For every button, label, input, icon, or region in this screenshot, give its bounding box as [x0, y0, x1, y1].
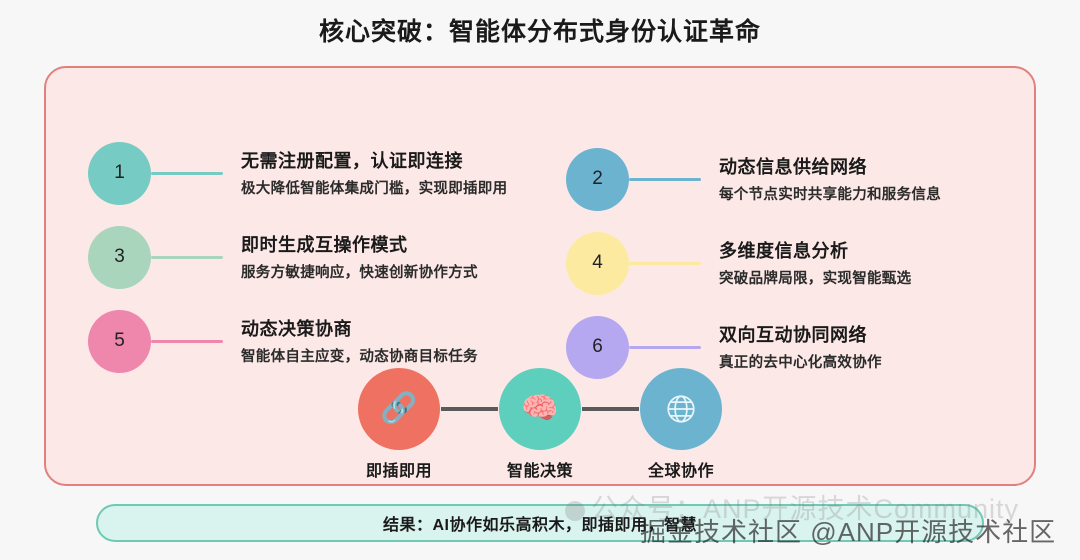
feature-sub-2: 每个节点实时共享能力和服务信息 — [719, 185, 941, 205]
feature-sub-4: 突破品牌局限，实现智能甄选 — [719, 269, 911, 289]
feature-text-6: 双向互动协同网络 真正的去中心化高效协作 — [701, 322, 882, 373]
icon-circle-brain: 🧠 — [499, 368, 581, 450]
feature-heading-6: 双向互动协同网络 — [719, 322, 882, 348]
feature-number-circle-1: 1 — [88, 142, 151, 205]
feature-heading-3: 即时生成互操作模式 — [241, 232, 478, 258]
feature-connector-3 — [151, 256, 223, 259]
feature-item-3[interactable]: 3 即时生成互操作模式 服务方敏捷响应，快速创新协作方式 — [88, 214, 478, 300]
icon-circle-link: 🔗 — [358, 368, 440, 450]
feature-connector-5 — [151, 340, 223, 343]
feature-number-1: 1 — [114, 162, 125, 184]
icon-connector-2 — [582, 407, 639, 411]
icon-circle-globe — [640, 368, 722, 450]
feature-heading-4: 多维度信息分析 — [719, 238, 911, 264]
feature-connector-6 — [629, 346, 701, 349]
feature-number-circle-2: 2 — [566, 148, 629, 211]
icon-label-global-collaboration: 全球协作 — [648, 457, 714, 481]
feature-item-2[interactable]: 2 动态信息供给网络 每个节点实时共享能力和服务信息 — [566, 136, 941, 222]
feature-connector-4 — [629, 262, 701, 265]
feature-connector-2 — [629, 178, 701, 181]
feature-number-circle-5: 5 — [88, 310, 151, 373]
icon-connector-1 — [441, 407, 498, 411]
feature-number-3: 3 — [114, 246, 125, 268]
main-panel: 1 无需注册配置，认证即连接 极大降低智能体集成门槛，实现即插即用 3 即时生成… — [44, 66, 1036, 486]
feature-sub-1: 极大降低智能体集成门槛，实现即插即用 — [241, 179, 507, 199]
feature-item-4[interactable]: 4 多维度信息分析 突破品牌局限，实现智能甄选 — [566, 220, 911, 306]
feature-heading-1: 无需注册配置，认证即连接 — [241, 148, 507, 174]
icon-node-plug-and-play[interactable]: 🔗 即插即用 — [357, 368, 441, 481]
icon-row: 🔗 即插即用 🧠 智能决策 — [46, 368, 1034, 486]
feature-heading-2: 动态信息供给网络 — [719, 154, 941, 180]
icon-label-smart-decision: 智能决策 — [507, 457, 573, 481]
icon-node-smart-decision[interactable]: 🧠 智能决策 — [498, 368, 582, 481]
feature-text-5: 动态决策协商 智能体自主应变，动态协商目标任务 — [223, 316, 478, 367]
brain-icon: 🧠 — [521, 394, 558, 424]
feature-text-1: 无需注册配置，认证即连接 极大降低智能体集成门槛，实现即插即用 — [223, 148, 507, 199]
feature-item-1[interactable]: 1 无需注册配置，认证即连接 极大降低智能体集成门槛，实现即插即用 — [88, 130, 507, 216]
page-title: 核心突破：智能体分布式身份认证革命 — [0, 0, 1080, 62]
feature-text-3: 即时生成互操作模式 服务方敏捷响应，快速创新协作方式 — [223, 232, 478, 283]
link-icon: 🔗 — [380, 394, 417, 424]
feature-number-circle-3: 3 — [88, 226, 151, 289]
feature-number-5: 5 — [114, 330, 125, 352]
feature-sub-3: 服务方敏捷响应，快速创新协作方式 — [241, 263, 478, 283]
feature-number-4: 4 — [592, 252, 603, 274]
feature-heading-5: 动态决策协商 — [241, 316, 478, 342]
icon-node-global-collaboration[interactable]: 全球协作 — [639, 368, 723, 481]
feature-text-4: 多维度信息分析 突破品牌局限，实现智能甄选 — [701, 238, 911, 289]
result-banner-text: 结果：AI协作如乐高积木，即插即用，智慧 — [383, 511, 697, 535]
result-banner: 结果：AI协作如乐高积木，即插即用，智慧 — [96, 504, 984, 542]
icon-label-plug-and-play: 即插即用 — [366, 457, 432, 481]
feature-connector-1 — [151, 172, 223, 175]
feature-number-circle-4: 4 — [566, 232, 629, 295]
feature-sub-5: 智能体自主应变，动态协商目标任务 — [241, 347, 478, 367]
feature-text-2: 动态信息供给网络 每个节点实时共享能力和服务信息 — [701, 154, 941, 205]
feature-number-2: 2 — [592, 168, 603, 190]
feature-number-6: 6 — [592, 336, 603, 358]
globe-icon — [664, 392, 698, 426]
